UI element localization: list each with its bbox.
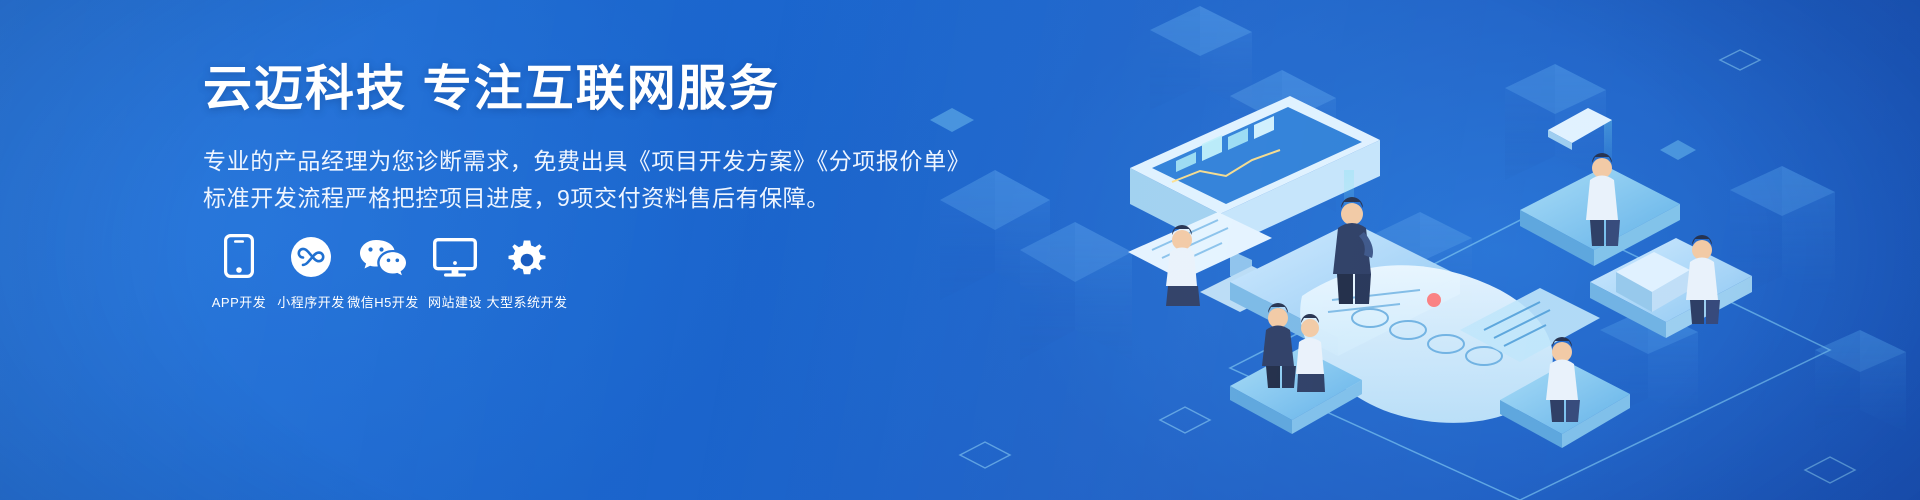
service-label-system: 大型系统开发 xyxy=(487,292,568,311)
service-item-app[interactable]: APP开发 xyxy=(203,232,275,311)
hero-content: 云迈科技 专注互联网服务 专业的产品经理为您诊断需求，免费出具《项目开发方案》《… xyxy=(203,62,963,217)
illustration-svg xyxy=(900,0,1920,500)
gear-icon xyxy=(506,232,548,278)
service-item-wechat[interactable]: 微信H5开发 xyxy=(347,232,419,311)
person-main xyxy=(1333,197,1373,304)
subtitle-line-1: 专业的产品经理为您诊断需求，免费出具《项目开发方案》《分项报价单》 xyxy=(203,143,963,180)
service-label-wechat: 微信H5开发 xyxy=(347,292,419,311)
mini-program-icon xyxy=(290,232,332,278)
service-label-miniprogram: 小程序开发 xyxy=(277,292,345,311)
service-icon-row: APP开发 小程序开发 微信 xyxy=(203,232,563,311)
service-label-website: 网站建设 xyxy=(428,292,482,311)
page-title: 云迈科技 专注互联网服务 xyxy=(203,62,963,117)
service-item-website[interactable]: 网站建设 xyxy=(419,232,491,311)
service-item-system[interactable]: 大型系统开发 xyxy=(491,232,563,311)
service-label-app: APP开发 xyxy=(212,292,267,311)
hero-banner: 云迈科技 专注互联网服务 专业的产品经理为您诊断需求，免费出具《项目开发方案》《… xyxy=(0,0,1920,500)
mobile-phone-icon xyxy=(224,232,254,278)
service-item-miniprogram[interactable]: 小程序开发 xyxy=(275,232,347,311)
hero-subtitle: 专业的产品经理为您诊断需求，免费出具《项目开发方案》《分项报价单》 标准开发流程… xyxy=(203,143,963,218)
subtitle-line-2: 标准开发流程严格把控项目进度，9项交付资料售后有保障。 xyxy=(203,180,963,217)
wechat-icon xyxy=(359,232,407,278)
isometric-illustration xyxy=(900,0,1920,500)
monitor-icon xyxy=(433,232,477,278)
